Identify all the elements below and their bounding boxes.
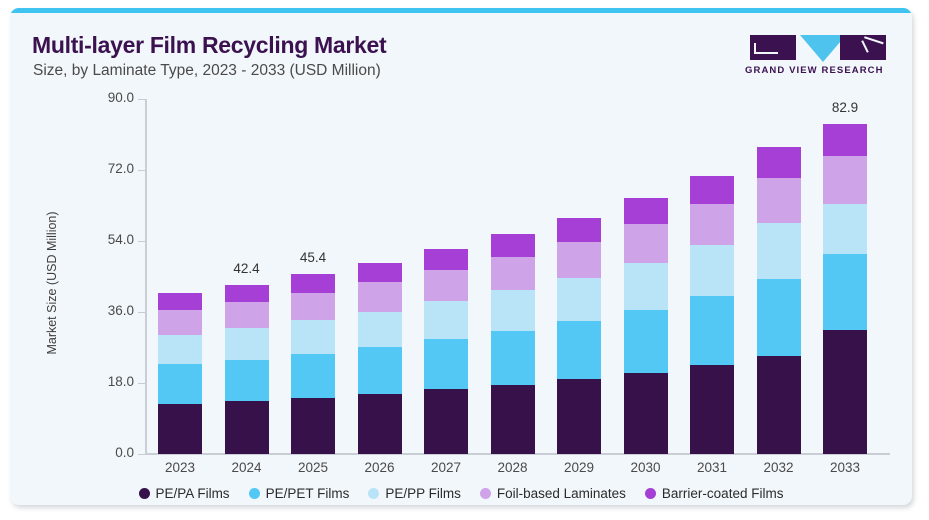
bar-segment[interactable]	[225, 401, 269, 454]
y-axis-tick-label: 0.0	[88, 445, 134, 460]
bar-segment[interactable]	[358, 312, 402, 348]
bar-stack[interactable]	[424, 249, 468, 454]
y-axis-tick-mark	[138, 383, 145, 384]
y-axis-tick-label: 18.0	[88, 374, 134, 389]
bar-segment[interactable]	[358, 263, 402, 283]
legend-label: PE/PET Films	[266, 486, 350, 501]
bar-segment[interactable]	[424, 301, 468, 339]
legend-swatch-icon	[368, 488, 379, 499]
bar-segment[interactable]	[291, 398, 335, 454]
bar-stack[interactable]	[158, 293, 202, 454]
legend-item[interactable]: Barrier-coated Films	[645, 486, 784, 501]
y-axis-tick-label: 36.0	[88, 303, 134, 318]
bar-segment[interactable]	[690, 296, 734, 365]
bar-segment[interactable]	[424, 389, 468, 454]
y-axis-tick-mark	[138, 241, 145, 242]
bar-segment[interactable]	[491, 290, 535, 331]
bar-segment[interactable]	[491, 331, 535, 385]
bar-segment[interactable]	[158, 293, 202, 310]
x-axis-tick-label: 2028	[478, 460, 548, 475]
y-axis-tick-label: 90.0	[88, 90, 134, 105]
legend-label: Barrier-coated Films	[662, 486, 784, 501]
bar-stack[interactable]	[358, 263, 402, 454]
bar-segment[interactable]	[424, 249, 468, 270]
bar-segment[interactable]	[757, 279, 801, 356]
bar-segment[interactable]	[823, 330, 867, 454]
bar-stack[interactable]	[823, 124, 867, 454]
bar-segment[interactable]	[158, 335, 202, 365]
bar-stack[interactable]	[557, 218, 601, 454]
bar-segment[interactable]	[823, 204, 867, 253]
bar-segment[interactable]	[291, 320, 335, 354]
bar-segment[interactable]	[823, 254, 867, 330]
y-axis-line	[145, 99, 147, 454]
bar-segment[interactable]	[624, 310, 668, 373]
x-axis-tick-label: 2033	[810, 460, 880, 475]
y-axis-tick-mark	[138, 99, 145, 100]
y-axis-tick-label: 54.0	[88, 232, 134, 247]
legend-swatch-icon	[249, 488, 260, 499]
legend-item[interactable]: PE/PA Films	[139, 486, 230, 501]
bar-segment[interactable]	[690, 245, 734, 296]
legend-label: PE/PA Films	[156, 486, 230, 501]
bar-segment[interactable]	[757, 223, 801, 279]
y-axis-title: Market Size (USD Million)	[45, 163, 59, 403]
bar-segment[interactable]	[158, 310, 202, 335]
y-axis-tick-mark	[138, 312, 145, 313]
bar-segment[interactable]	[291, 274, 335, 293]
y-axis-tick-mark	[138, 454, 145, 455]
screenshot-root: Multi-layer Film Recycling Market Size, …	[0, 0, 929, 520]
bar-segment[interactable]	[690, 365, 734, 454]
bar-segment[interactable]	[557, 379, 601, 454]
bar-segment[interactable]	[358, 282, 402, 311]
bar-segment[interactable]	[557, 321, 601, 379]
bar-segment[interactable]	[823, 156, 867, 204]
x-axis-tick-label: 2024	[212, 460, 282, 475]
bar-segment[interactable]	[690, 176, 734, 204]
legend-item[interactable]: PE/PP Films	[368, 486, 461, 501]
bar-segment[interactable]	[624, 198, 668, 224]
bar-segment[interactable]	[158, 364, 202, 403]
stacked-bar-chart: Market Size (USD Million) 0.018.036.054.…	[10, 8, 912, 505]
bar-segment[interactable]	[624, 263, 668, 310]
chart-legend: PE/PA FilmsPE/PET FilmsPE/PP FilmsFoil-b…	[10, 486, 912, 501]
x-axis-tick-label: 2025	[278, 460, 348, 475]
bar-stack[interactable]	[225, 285, 269, 454]
bar-segment[interactable]	[491, 234, 535, 256]
bar-value-label: 42.4	[212, 261, 282, 276]
x-axis-tick-label: 2027	[411, 460, 481, 475]
bar-segment[interactable]	[225, 360, 269, 401]
bar-segment[interactable]	[358, 394, 402, 454]
bar-segment[interactable]	[557, 218, 601, 242]
legend-label: PE/PP Films	[385, 486, 461, 501]
legend-swatch-icon	[139, 488, 150, 499]
bar-segment[interactable]	[225, 302, 269, 328]
bar-segment[interactable]	[757, 178, 801, 224]
legend-label: Foil-based Laminates	[497, 486, 626, 501]
x-axis-tick-label: 2031	[677, 460, 747, 475]
y-axis-tick-mark	[138, 170, 145, 171]
x-axis-tick-label: 2030	[611, 460, 681, 475]
x-axis-tick-label: 2026	[345, 460, 415, 475]
bar-segment[interactable]	[225, 328, 269, 360]
x-axis-tick-label: 2032	[744, 460, 814, 475]
bar-segment[interactable]	[225, 285, 269, 302]
bar-segment[interactable]	[757, 147, 801, 178]
bar-segment[interactable]	[291, 293, 335, 321]
x-axis-tick-label: 2023	[145, 460, 215, 475]
bar-stack[interactable]	[491, 234, 535, 454]
bar-stack[interactable]	[624, 198, 668, 454]
bar-segment[interactable]	[291, 354, 335, 398]
legend-item[interactable]: PE/PET Films	[249, 486, 350, 501]
bar-segment[interactable]	[491, 385, 535, 454]
bar-segment[interactable]	[557, 278, 601, 321]
bar-segment[interactable]	[624, 224, 668, 263]
bar-segment[interactable]	[690, 204, 734, 246]
bar-value-label: 45.4	[278, 250, 348, 265]
legend-swatch-icon	[645, 488, 656, 499]
bar-stack[interactable]	[291, 274, 335, 454]
bar-segment[interactable]	[823, 124, 867, 156]
bar-stack[interactable]	[757, 147, 801, 454]
chart-card: Multi-layer Film Recycling Market Size, …	[10, 8, 912, 505]
bar-segment[interactable]	[757, 356, 801, 454]
legend-swatch-icon	[480, 488, 491, 499]
bar-segment[interactable]	[624, 373, 668, 454]
bar-segment[interactable]	[158, 404, 202, 454]
bar-segment[interactable]	[557, 242, 601, 278]
legend-item[interactable]: Foil-based Laminates	[480, 486, 626, 501]
bar-segment[interactable]	[424, 339, 468, 389]
bar-segment[interactable]	[424, 270, 468, 301]
bar-segment[interactable]	[491, 257, 535, 291]
bar-stack[interactable]	[690, 176, 734, 454]
bar-segment[interactable]	[358, 347, 402, 394]
x-axis-tick-label: 2029	[544, 460, 614, 475]
bar-value-label: 82.9	[810, 100, 880, 115]
y-axis-tick-label: 72.0	[88, 161, 134, 176]
